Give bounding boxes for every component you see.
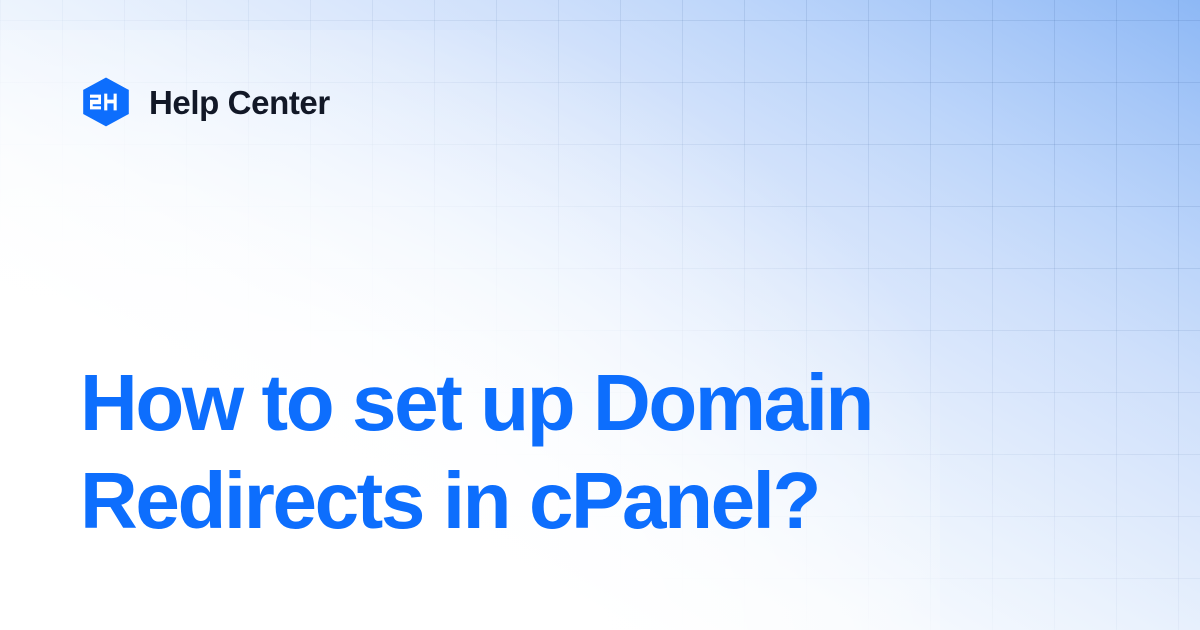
brand-lockup[interactable]: Help Center xyxy=(80,76,330,128)
page-title: How to set up Domain Redirects in cPanel… xyxy=(80,354,1120,549)
brand-name-label: Help Center xyxy=(149,86,330,119)
page-title-line-1: How to set up Domain xyxy=(80,354,1120,452)
sh-cube-logo-icon xyxy=(80,76,132,128)
page-title-line-2: Redirects in cPanel? xyxy=(80,452,1120,550)
help-center-social-card: Help Center How to set up Domain Redirec… xyxy=(0,0,1200,630)
